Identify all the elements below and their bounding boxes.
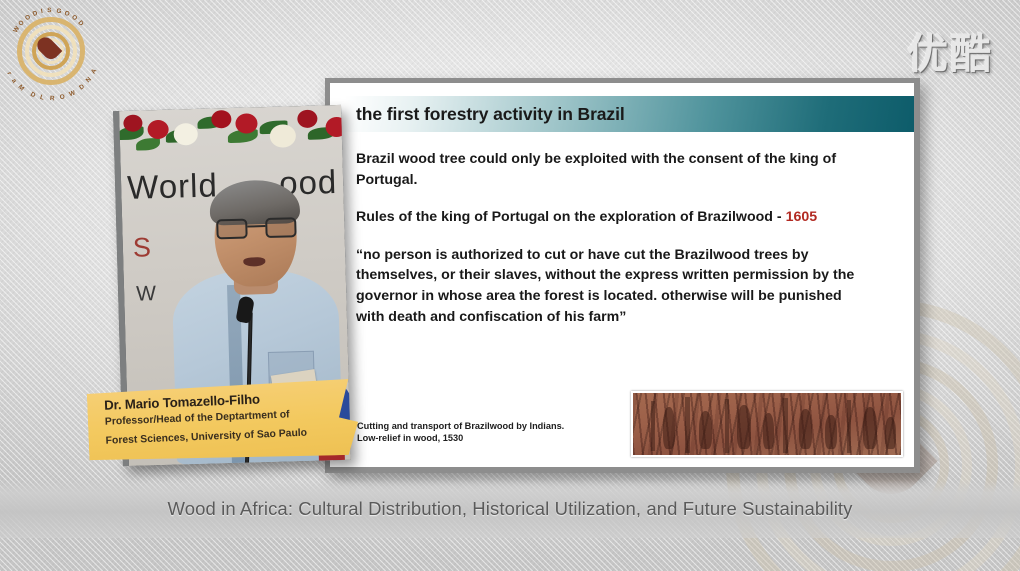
bottom-title-banner: Wood in Africa: Cultural Distribution, H…	[0, 480, 1020, 538]
year-accent: 1605	[786, 209, 818, 225]
slide-paragraph-2: Rules of the king of Portugal on the exp…	[356, 207, 856, 228]
backdrop-text-s: S	[132, 232, 151, 263]
rules-text: Rules of the king of Portugal on the exp…	[356, 209, 786, 225]
slide-image-caption: Cutting and transport of Brazilwood by I…	[357, 420, 564, 445]
logo-arc-text: W O O D I S G O O D A N D W O R L D M a …	[7, 7, 95, 95]
backdrop-text-world: World	[127, 166, 219, 207]
youku-watermark: 优酷	[907, 20, 993, 80]
eyeglasses-icon	[216, 217, 297, 239]
floral-garland-decoration	[113, 105, 351, 163]
wood-low-relief-image	[631, 391, 903, 457]
slide-title-bar: the first forestry activity in Brazil	[345, 96, 914, 132]
backdrop-text-w: W	[136, 282, 156, 307]
slide-title: the first forestry activity in Brazil	[345, 104, 625, 125]
slide-paragraph-1: Brazil wood tree could only be exploited…	[356, 149, 856, 190]
caption-line-1: Cutting and transport of Brazilwood by I…	[357, 420, 564, 433]
slide-body: Brazil wood tree could only be exploited…	[356, 149, 856, 344]
lecture-title: Wood in Africa: Cultural Distribution, H…	[167, 498, 852, 520]
slide-paragraph-3: “no person is authorized to cut or have …	[356, 245, 856, 327]
presentation-slide[interactable]: the first forestry activity in Brazil Br…	[325, 78, 920, 473]
caption-line-2: Low-relief in wood, 1530	[357, 432, 564, 445]
video-player-stage: W O O D I S G O O D A N D W O R L D M a …	[0, 0, 1020, 571]
wood-is-good-logo: W O O D I S G O O D A N D W O R L D M a …	[7, 7, 95, 95]
